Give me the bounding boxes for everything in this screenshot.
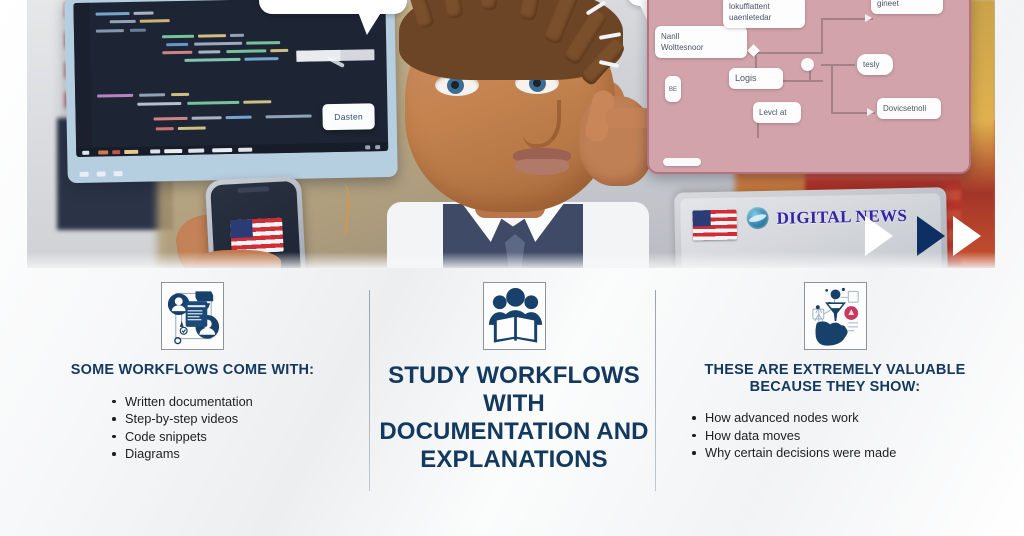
flow-node: Dovicsetnoll [877,98,941,119]
taskbar-chip [212,147,232,151]
arrowhead [865,14,872,22]
code-line [230,34,244,38]
code-line [184,58,240,62]
taskbar-chip [150,149,160,153]
decision-diamond [747,44,760,57]
workflow-docs-icon [161,282,224,350]
phone-notch [237,186,269,193]
code-line [198,34,226,38]
code-line [270,49,288,53]
bullet-list: Written documentation Step-by-step video… [20,393,365,463]
code-line [97,94,133,98]
code-line [187,101,239,105]
column-heading: STUDY WORKFLOWS WITH DOCUMENTATION AND E… [378,362,650,474]
flow-node: tesly [857,54,893,75]
news-globe-icon [746,207,768,229]
code-line [246,41,280,45]
monitor-screen: Dasten [73,0,388,157]
us-flag-icon [692,210,737,241]
column-heading: THESE ARE EXTREMELY VALUABLE BECAUSE THE… [701,362,969,395]
code-line [166,43,188,47]
code-editor-monitor: Dasten [64,0,398,183]
student-illustration [357,0,687,268]
people-reading-book-icon [483,282,546,350]
code-line [154,117,188,121]
taskbar-chip [238,147,252,151]
play-triangle-white-1[interactable] [865,216,893,256]
flow-node: sostl emo gineet [871,0,943,14]
code-line [266,114,312,118]
code-line [226,49,266,53]
connector [757,52,823,54]
code-line [96,29,124,33]
taskbar-chip [82,150,89,154]
panel-label [651,158,659,166]
braid [481,0,497,10]
list-item: Why certain decisions were made [690,444,1010,462]
code-line [162,35,194,39]
code-line [198,50,220,54]
merge-node [801,58,814,71]
nose [523,100,561,148]
lower-lip [515,159,569,175]
code-line [139,93,165,97]
code-line [130,29,146,33]
code-line [162,51,192,55]
connector [821,18,823,54]
code-gutter [73,3,92,157]
connector [821,64,855,66]
bullet-list: How advanced nodes work How data moves W… [660,409,1010,462]
play-triangle-navy[interactable] [917,216,945,256]
code-line [192,116,222,120]
code-line [110,20,136,24]
list-item: How data moves [690,427,1010,445]
code-line [194,42,242,46]
flow-node: lokufflattent uaenletedar [723,0,805,28]
us-flag-icon [230,218,284,255]
code-line [243,100,271,104]
hand-data-nodes-icon [804,282,867,350]
connector [831,64,833,112]
taskbar-chip [112,150,120,154]
list-item: How advanced nodes work [690,409,1010,427]
column-workflows-come-with: SOME WORKFLOWS COME WITH: Written docume… [20,268,365,536]
hand-data-nodes-icon-svg [805,283,867,350]
workflow-diagram-panel: Nanll Wolttesnoor lokufflattent uaenlete… [647,0,971,174]
code-line [137,102,181,106]
flow-node: Nanll Wolttesnoor [655,26,747,58]
code-line [244,57,278,61]
code-line [96,12,130,16]
editor-taskbar [76,142,388,157]
flow-node: BE [665,76,681,102]
code-line [226,116,252,120]
panel-chip [663,158,701,166]
code-line [171,93,189,97]
code-line [178,126,206,130]
column-heading: SOME WORKFLOWS COME WITH: [62,362,324,379]
taskbar-chip [164,148,182,152]
column-valuable-because: THESE ARE EXTREMELY VALUABLE BECAUSE THE… [660,268,1010,536]
people-reading-book-icon-svg [484,283,546,350]
three-column-section: SOME WORKFLOWS COME WITH: Written docume… [0,268,1024,536]
monitor-bezel-lights [80,171,123,177]
code-line [134,11,154,15]
list-item: Step-by-step videos [110,410,365,428]
play-triangle-white-2[interactable] [953,216,981,256]
hero-bottom-fade [27,252,995,268]
list-item: Written documentation [110,393,365,411]
code-line [156,127,174,131]
connector [779,80,823,82]
taskbar-chip [98,150,108,154]
list-item: Diagrams [110,445,365,463]
flow-node: Logis [729,68,783,89]
workflow-docs-icon-svg [162,283,224,350]
infographic-page: Dasten [0,0,1024,536]
taskbar-chip [124,149,138,153]
arrowhead [867,108,874,116]
column-study-workflows: STUDY WORKFLOWS WITH DOCUMENTATION AND E… [375,268,653,536]
code-line [140,19,170,23]
taskbar-chip [188,148,204,152]
flow-node: Levcl at [753,102,801,123]
list-item: Code snippets [110,428,365,446]
hero-illustration: Dasten [27,0,995,268]
